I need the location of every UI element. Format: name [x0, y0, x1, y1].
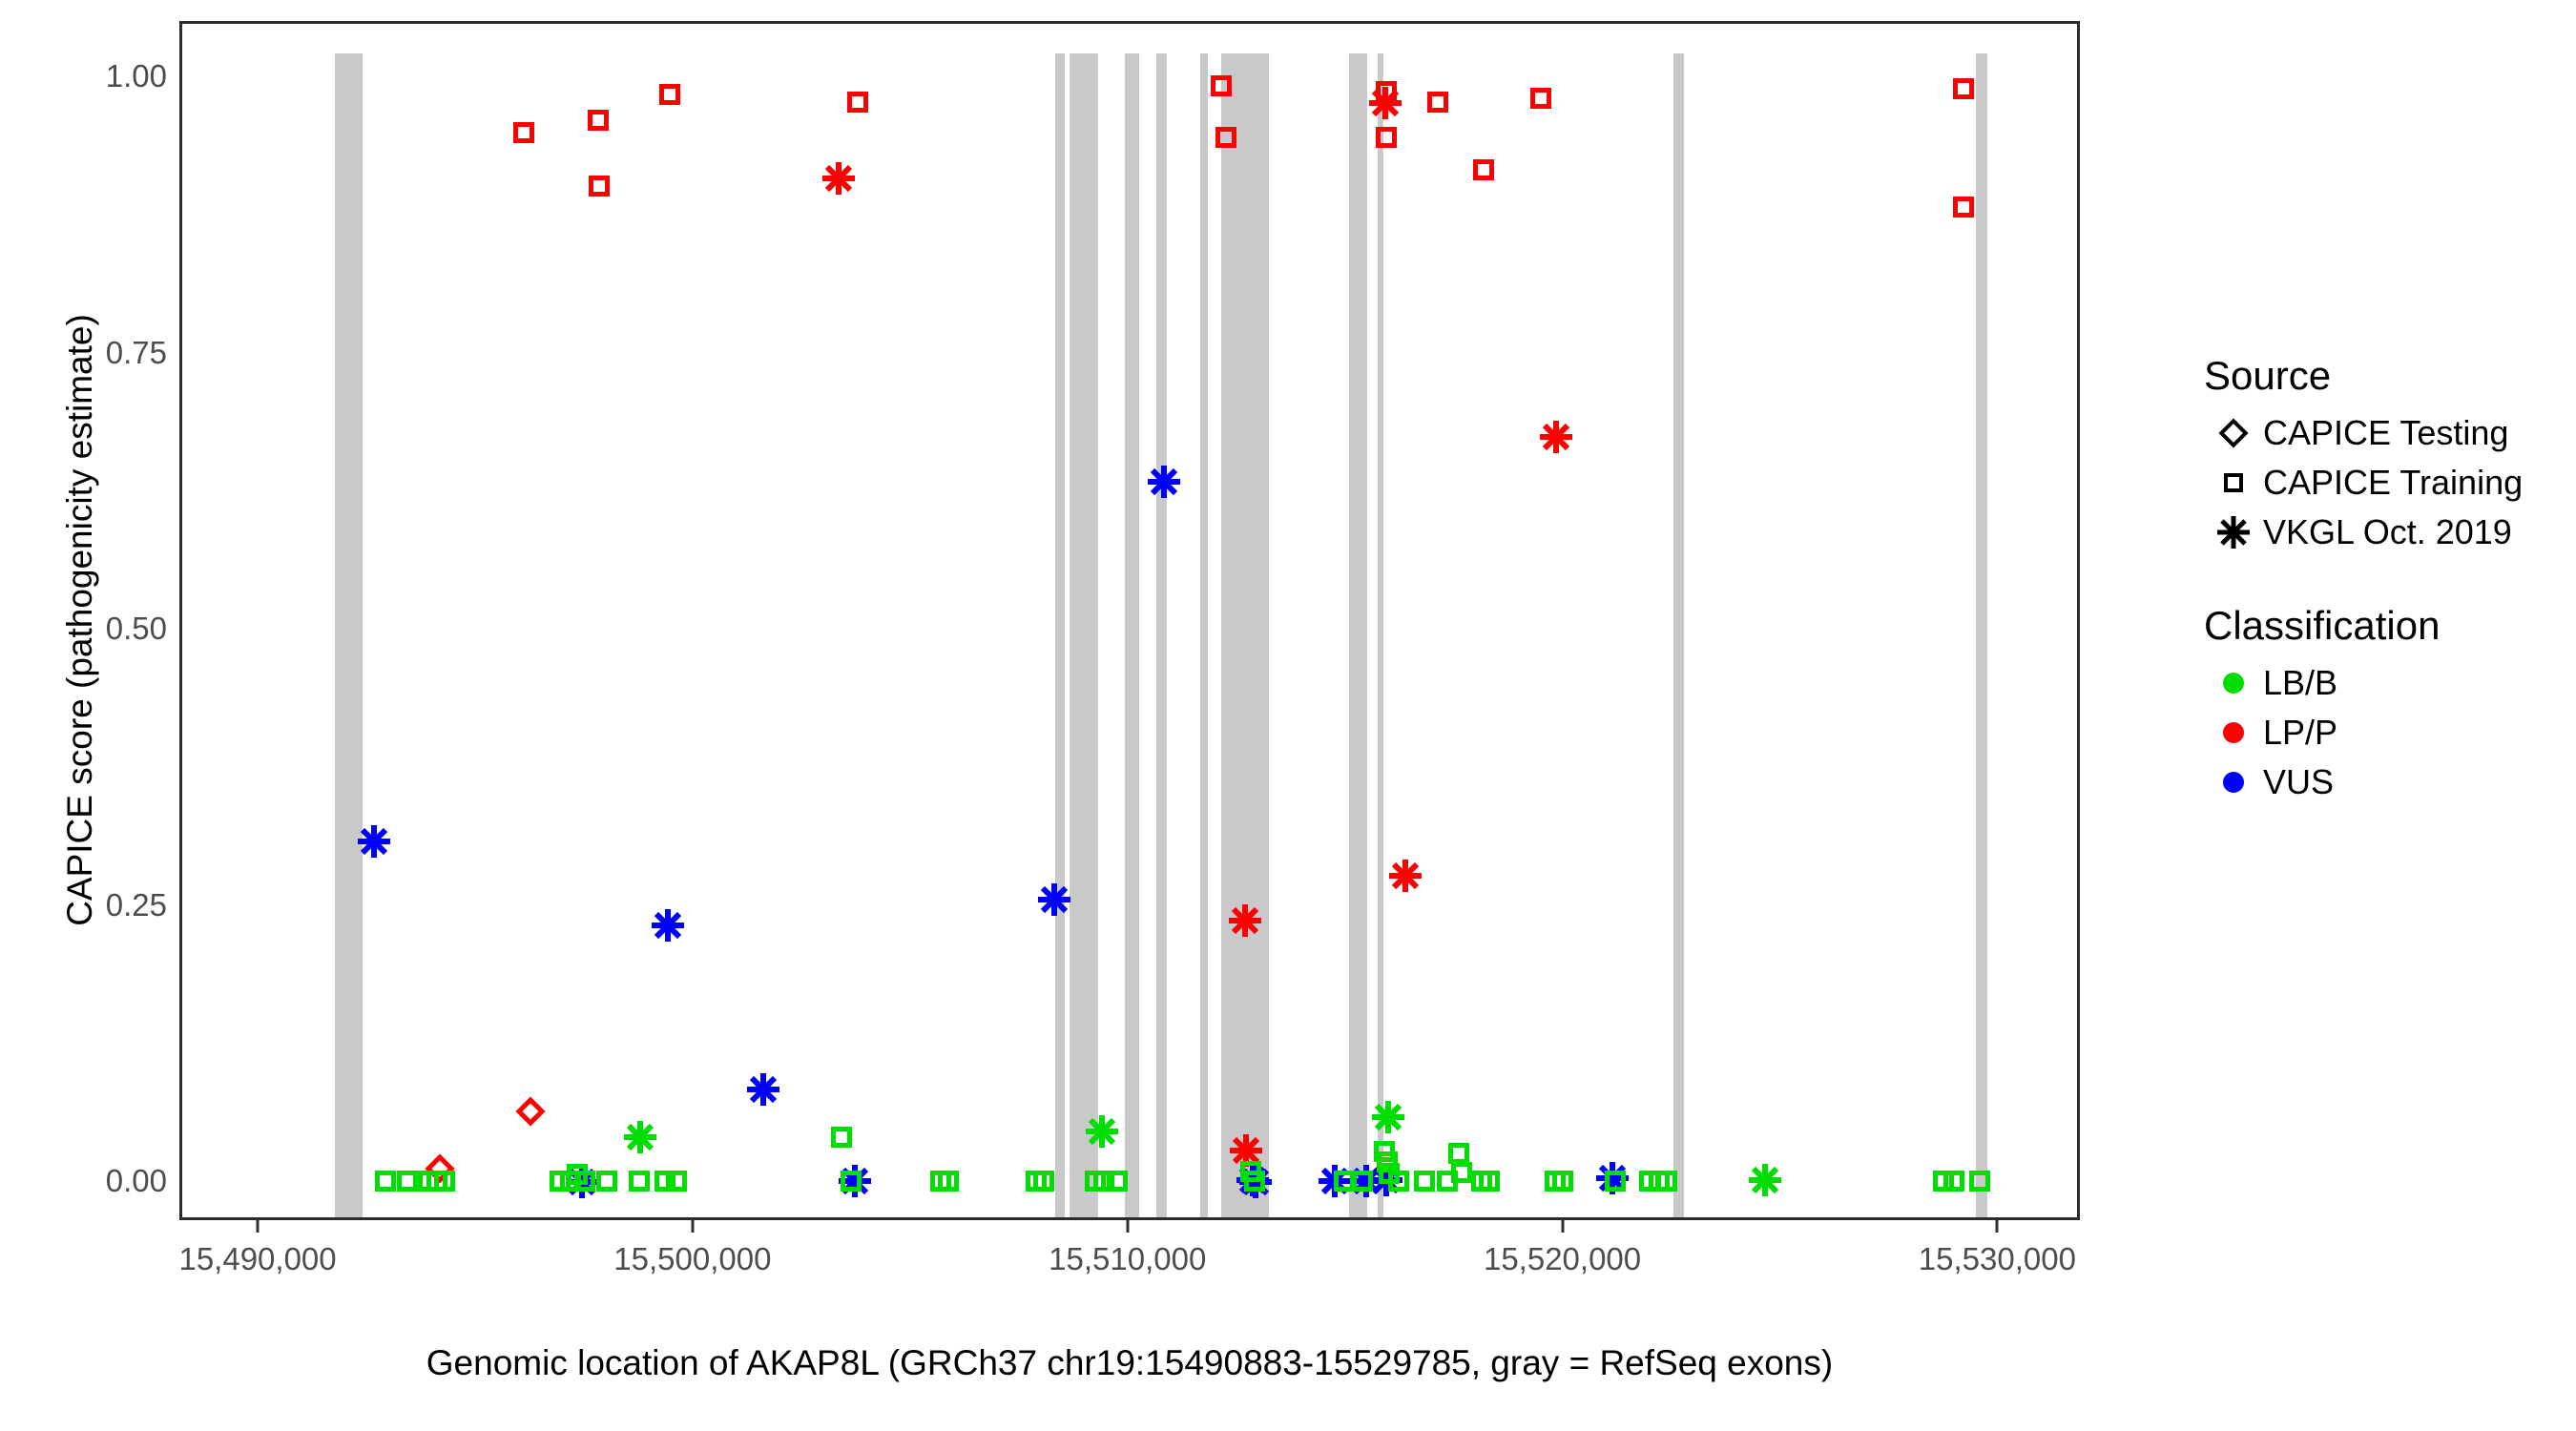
diamond-icon — [2218, 418, 2248, 447]
data-point — [1943, 1171, 1964, 1192]
data-point — [1545, 1171, 1566, 1192]
data-point — [1148, 466, 1180, 498]
data-point — [1319, 1165, 1351, 1197]
data-point — [1479, 1171, 1500, 1192]
data-point — [418, 1171, 439, 1192]
data-point — [847, 92, 868, 113]
data-point — [358, 825, 390, 858]
data-point — [652, 909, 684, 942]
exon-band — [1673, 53, 1684, 1217]
data-point — [375, 1171, 396, 1192]
data-point — [1473, 159, 1494, 180]
x-tick-label: 15,500,000 — [613, 1241, 771, 1277]
x-tick-label: 15,530,000 — [1919, 1241, 2076, 1277]
exon-band — [335, 53, 363, 1217]
legend-key — [2204, 658, 2263, 708]
data-point — [1086, 1115, 1118, 1148]
x-tick-mark — [1996, 1220, 1999, 1233]
data-point — [1427, 92, 1448, 113]
data-point — [426, 1171, 447, 1192]
square-icon — [2224, 473, 2243, 492]
asterisk-icon — [2217, 516, 2250, 549]
data-point — [1448, 1143, 1469, 1164]
dot-icon — [2223, 772, 2244, 793]
legend-source-item-0[interactable]: CAPICE Testing — [2204, 408, 2566, 458]
y-tick-label: 1.00 — [24, 58, 167, 94]
exon-band — [1055, 53, 1065, 1217]
data-point — [938, 1171, 959, 1192]
data-point — [1389, 860, 1422, 892]
data-point — [397, 1171, 418, 1192]
data-point — [666, 1171, 687, 1192]
legend-item-label: CAPICE Training — [2263, 463, 2523, 503]
data-point — [1229, 904, 1261, 937]
data-point — [1038, 883, 1070, 916]
dot-icon — [2223, 673, 2244, 694]
legend-classification-item-1[interactable]: LP/P — [2204, 708, 2566, 757]
exon-band — [1070, 53, 1097, 1217]
legend-key — [2204, 408, 2263, 458]
data-point — [515, 1096, 545, 1126]
x-axis-title: Genomic location of AKAP8L (GRCh37 chr19… — [179, 1343, 2080, 1383]
dot-icon — [2223, 722, 2244, 743]
exon-band — [1221, 53, 1269, 1217]
x-tick-label: 15,520,000 — [1484, 1241, 1641, 1277]
legend-classification-item-2[interactable]: VUS — [2204, 757, 2566, 807]
data-point — [1540, 421, 1572, 453]
data-point — [589, 176, 610, 197]
data-point — [654, 1171, 675, 1192]
data-point — [513, 122, 534, 143]
data-point — [425, 1154, 454, 1184]
data-point — [1471, 1171, 1492, 1192]
x-tick-label: 15,510,000 — [1049, 1241, 1206, 1277]
legend-item-label: VUS — [2263, 762, 2334, 802]
plot-panel — [179, 21, 2080, 1220]
data-point — [1933, 1171, 1954, 1192]
data-point — [822, 162, 855, 195]
y-tick-label: 0.75 — [24, 335, 167, 371]
x-tick-label: 15,490,000 — [178, 1241, 336, 1277]
y-axis-ticks: 0.000.250.500.751.00 — [14, 0, 167, 1431]
data-point — [839, 1165, 871, 1197]
legend-item-label: CAPICE Testing — [2263, 413, 2508, 453]
x-tick-mark — [1126, 1220, 1129, 1233]
legend-key — [2204, 708, 2263, 757]
x-tick-mark — [257, 1220, 260, 1233]
data-point — [1370, 1164, 1402, 1196]
legend-container: Source CAPICE TestingCAPICE TrainingVKGL… — [2204, 353, 2566, 807]
data-point — [1369, 87, 1402, 119]
legend-source-item-2[interactable]: VKGL Oct. 2019 — [2204, 508, 2566, 557]
legend-key — [2204, 508, 2263, 557]
data-point — [1953, 78, 1974, 99]
exon-band — [1200, 53, 1208, 1217]
exon-band — [1125, 53, 1139, 1217]
data-point — [629, 1171, 650, 1192]
data-point — [1596, 1162, 1629, 1194]
data-point — [747, 1073, 779, 1106]
data-point — [1639, 1171, 1660, 1192]
data-point — [930, 1171, 951, 1192]
data-point — [1437, 1171, 1458, 1192]
legend-key — [2204, 458, 2263, 508]
legend-item-label: LP/P — [2263, 713, 2337, 753]
legend-classification: Classification LB/BLP/PVUS — [2204, 603, 2566, 807]
data-point — [1451, 1162, 1472, 1183]
x-tick-mark — [1561, 1220, 1564, 1233]
data-point — [1530, 88, 1551, 109]
y-tick-label: 0.25 — [24, 887, 167, 923]
legend-classification-item-0[interactable]: LB/B — [2204, 658, 2566, 708]
y-tick-label: 0.00 — [24, 1163, 167, 1199]
data-point — [1026, 1171, 1047, 1192]
legend-item-label: VKGL Oct. 2019 — [2263, 512, 2512, 552]
exon-band — [1976, 53, 1986, 1217]
data-point — [1230, 1134, 1262, 1167]
legend-classification-title: Classification — [2204, 603, 2566, 649]
exon-band — [1156, 53, 1167, 1217]
data-point — [566, 1166, 598, 1198]
data-point — [434, 1171, 455, 1192]
x-tick-mark — [691, 1220, 694, 1233]
data-point — [1414, 1171, 1435, 1192]
data-point — [1649, 1171, 1670, 1192]
legend-item-label: LB/B — [2263, 663, 2337, 703]
legend-spacer — [2204, 557, 2566, 603]
data-point — [1033, 1171, 1054, 1192]
data-point — [831, 1127, 852, 1148]
y-tick-label: 0.50 — [24, 611, 167, 647]
data-point — [1953, 197, 1974, 218]
legend-source-item-1[interactable]: CAPICE Training — [2204, 458, 2566, 508]
data-point — [1239, 1166, 1272, 1198]
chart-root: CAPICE score (pathogenicity estimate) 0.… — [0, 0, 2576, 1431]
data-point — [588, 110, 609, 131]
legend-source-title: Source — [2204, 353, 2566, 399]
legend-key — [2204, 757, 2263, 807]
data-point — [1552, 1171, 1573, 1192]
data-point — [624, 1121, 656, 1153]
data-point — [1749, 1164, 1781, 1196]
exon-band — [1378, 53, 1384, 1217]
plot-area — [182, 24, 2077, 1217]
data-point — [659, 84, 680, 105]
exon-band — [1349, 53, 1367, 1217]
data-point — [596, 1171, 617, 1192]
x-axis-ticks: 15,490,00015,500,00015,510,00015,520,000… — [179, 1220, 2080, 1277]
data-point — [1372, 1101, 1404, 1133]
legend-source: Source CAPICE TestingCAPICE TrainingVKGL… — [2204, 353, 2566, 557]
